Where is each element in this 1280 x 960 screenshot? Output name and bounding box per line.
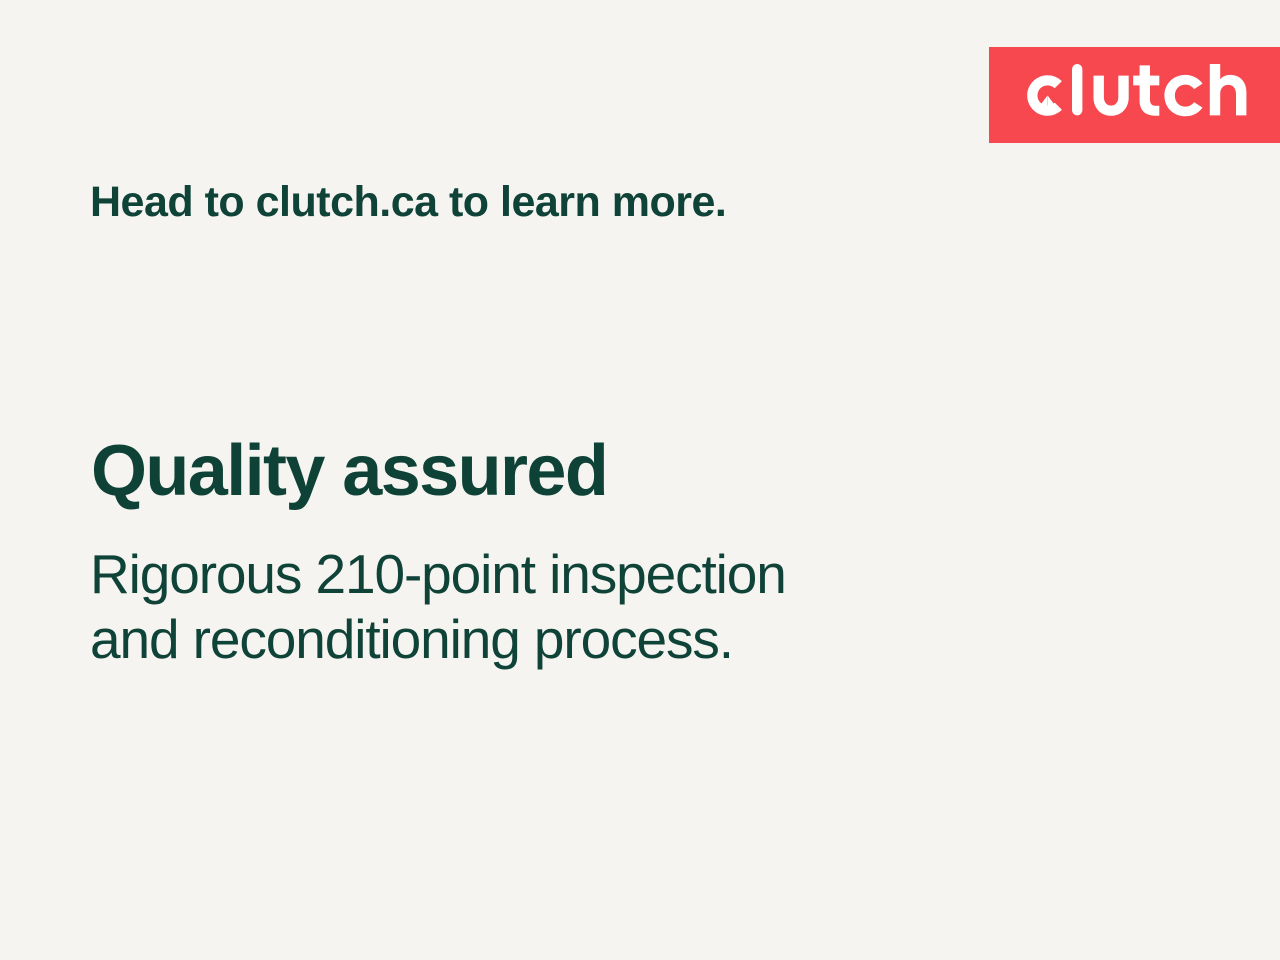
slide-canvas: Head to clutch.ca to learn more. Quality… — [0, 0, 1280, 960]
subcopy-line-2: and reconditioning process. — [90, 607, 786, 672]
kicker-text: Head to clutch.ca to learn more. — [90, 178, 726, 226]
clutch-wordmark-svg — [1014, 62, 1250, 128]
subcopy-line-1: Rigorous 210-point inspection — [90, 542, 786, 607]
headline-text: Quality assured — [91, 434, 607, 509]
clutch-gauge-icon — [1027, 75, 1062, 116]
clutch-logo[interactable] — [1014, 47, 1250, 143]
subcopy-block: Rigorous 210-point inspection and recond… — [90, 542, 786, 672]
brand-banner[interactable] — [989, 47, 1280, 143]
